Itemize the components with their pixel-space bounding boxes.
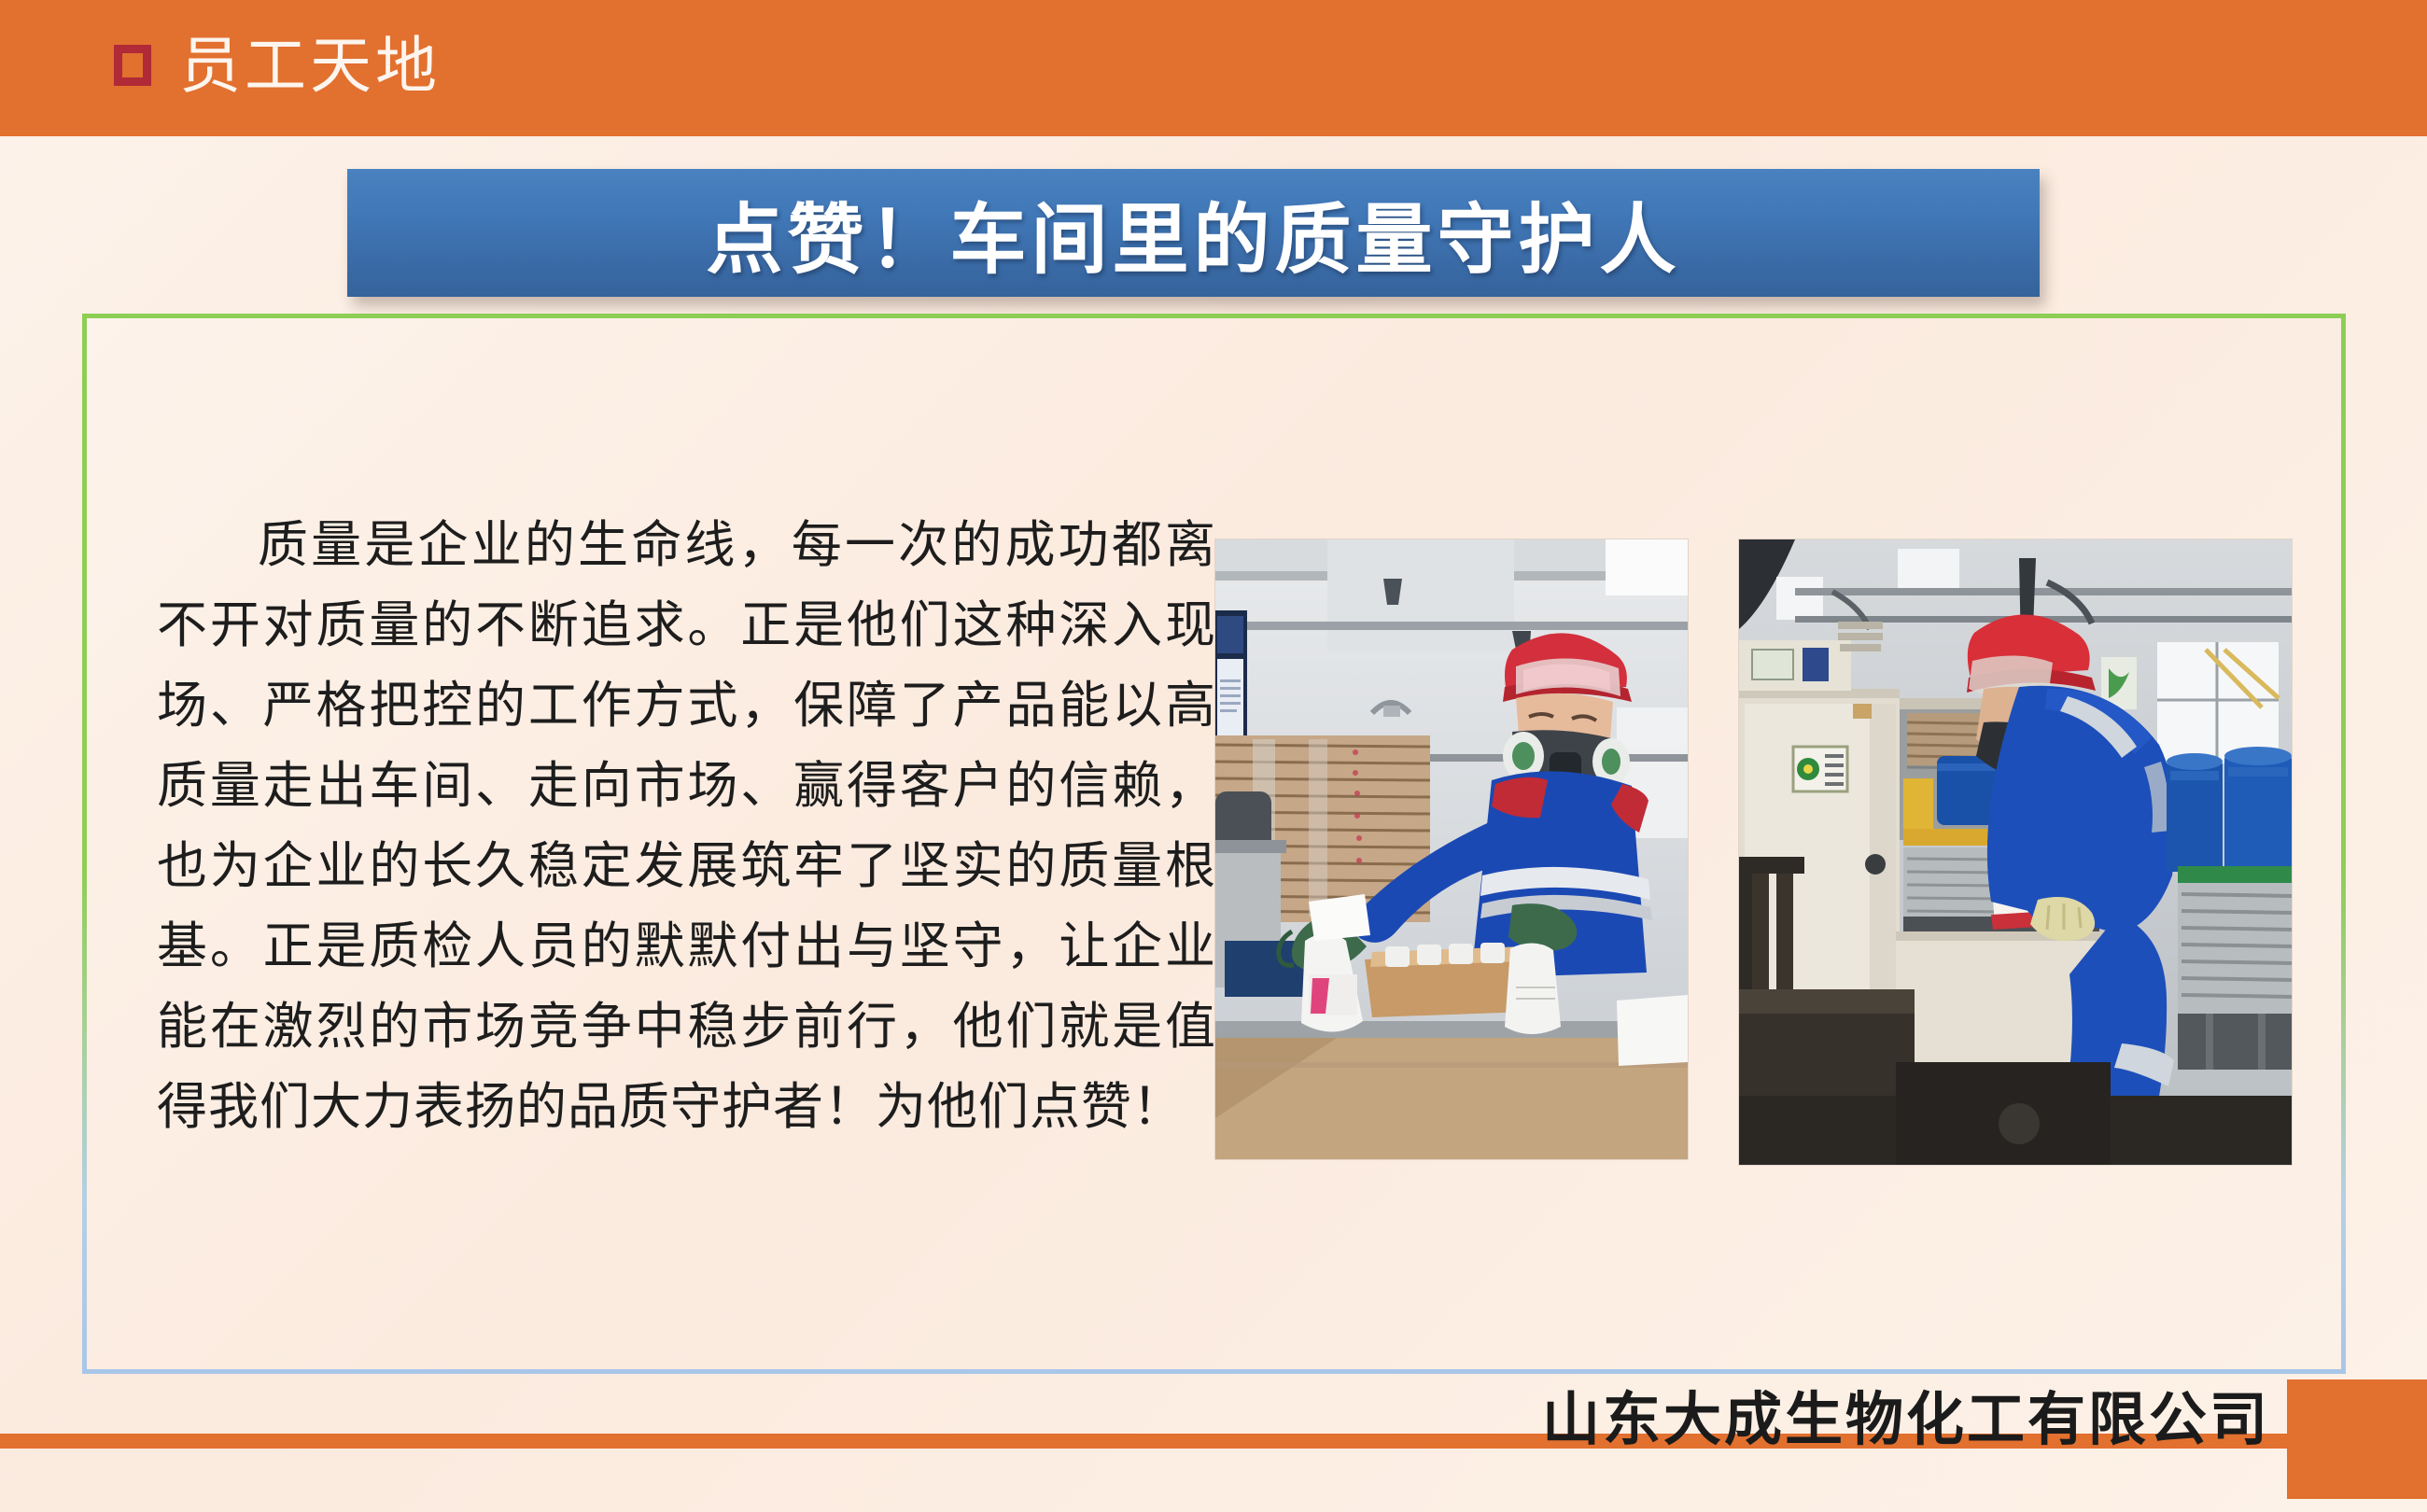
title-banner: 点赞！车间里的质量守护人 xyxy=(347,169,2040,297)
slide-canvas: 员工天地 点赞！车间里的质量守护人 质量是企业的生命线，每一次的成功都离不开对质… xyxy=(0,0,2427,1512)
worker-at-packaging-machine-photo xyxy=(1739,539,2292,1165)
content-inner: 质量是企业的生命线，每一次的成功都离不开对质量的不断追求。正是他们这种深入现场、… xyxy=(87,318,2341,1369)
body-paragraph: 质量是企业的生命线，每一次的成功都离不开对质量的不断追求。正是他们这种深入现场、… xyxy=(157,505,1216,1147)
content-frame: 质量是企业的生命线，每一次的成功都离不开对质量的不断追求。正是他们这种深入现场、… xyxy=(82,314,2346,1374)
footer-company-name: 山东大成生物化工有限公司 xyxy=(1542,1372,2270,1456)
title-banner-text: 点赞！车间里的质量守护人 xyxy=(706,177,1680,288)
footer-accent-block xyxy=(2287,1379,2427,1499)
header-title: 员工天地 xyxy=(179,17,441,114)
header-bar: 员工天地 xyxy=(0,0,2427,136)
square-outline-icon xyxy=(114,45,151,86)
worker-packing-bottles-photo xyxy=(1215,539,1688,1159)
